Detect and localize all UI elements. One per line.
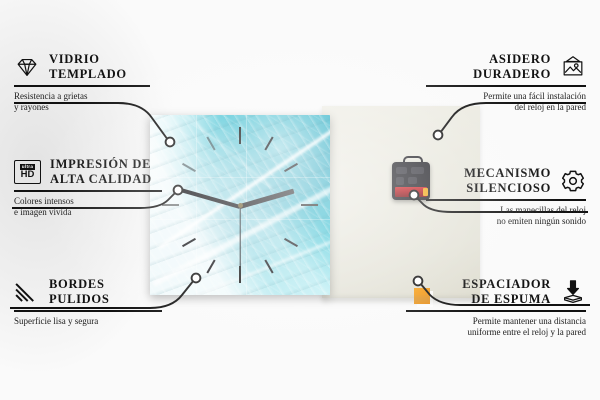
feature-subtitle-line2: del reloj en la pared — [426, 102, 586, 114]
feature-impresion-alta-calidad: ultra HD IMPRESIÓN DE ALTA CALIDAD Color… — [14, 157, 190, 219]
feature-vidrio-templado: VIDRIO TEMPLADO Resistencia a grietas y … — [14, 52, 174, 114]
feature-subtitle-line2: y rayones — [14, 102, 174, 114]
diamond-icon — [14, 54, 40, 80]
feature-title-line2: SILENCIOSO — [466, 181, 551, 195]
foam-spacer-arrow-icon — [560, 279, 586, 305]
feature-title-line1: IMPRESIÓN DE — [50, 157, 151, 171]
hanging-frame-icon — [560, 54, 586, 80]
ultra-hd-badge-main: HD — [21, 170, 35, 180]
feature-title-line1: BORDES — [49, 277, 105, 291]
feature-title-line2: DE ESPUMA — [471, 292, 551, 306]
feature-subtitle-line1: Resistencia a grietas — [14, 91, 174, 103]
leader-dot-middle-right — [410, 191, 419, 200]
feature-title-line1: MECANISMO — [464, 166, 551, 180]
bevelled-edges-icon — [14, 279, 40, 305]
feature-title-line2: DURADERO — [473, 67, 551, 81]
feature-title-line2: PULIDOS — [49, 292, 109, 306]
feature-asidero-duradero: ASIDERO DURADERO Permite una fácil insta… — [426, 52, 586, 114]
leader-dot-top-right — [434, 131, 443, 140]
gear-icon — [560, 168, 586, 194]
ultra-hd-badge-icon: ultra HD — [14, 160, 41, 184]
feature-bordes-pulidos: BORDES PULIDOS Superficie lisa y segura — [14, 277, 174, 327]
feature-subtitle-line1: Colores intensos — [14, 196, 190, 208]
product-infographic: VIDRIO TEMPLADO Resistencia a grietas y … — [0, 0, 600, 400]
feature-subtitle-line2: e imagen vívida — [14, 207, 190, 219]
feature-title-line2: ALTA CALIDAD — [50, 172, 152, 186]
feature-subtitle-line2: no emiten ningún sonido — [426, 216, 586, 228]
feature-subtitle-line1: Permite mantener una distancia — [406, 316, 586, 328]
feature-rule — [14, 85, 150, 87]
leader-dot-bottom-left — [192, 274, 201, 283]
feature-title-line1: VIDRIO — [49, 52, 100, 66]
feature-rule — [14, 190, 162, 192]
feature-rule — [406, 310, 586, 312]
feature-title-line1: ASIDERO — [489, 52, 551, 66]
feature-rule — [426, 85, 586, 87]
feature-subtitle-line2: uniforme entre el reloj y la pared — [406, 327, 586, 339]
feature-rule — [426, 199, 586, 201]
feature-rule — [14, 310, 162, 312]
feature-subtitle-line1: Permite una fácil instalación — [426, 91, 586, 103]
feature-espaciador-espuma: ESPACIADOR DE ESPUMA Permite mantener un… — [406, 277, 586, 339]
feature-title-line1: ESPACIADOR — [462, 277, 551, 291]
feature-mecanismo-silencioso: MECANISMO SILENCIOSO Las manecillas del … — [426, 166, 586, 228]
feature-subtitle-line1: Las manecillas del reloj — [426, 205, 586, 217]
feature-subtitle-line1: Superficie lisa y segura — [14, 316, 174, 328]
leader-dot-top-left — [166, 138, 175, 147]
feature-title-line2: TEMPLADO — [49, 67, 127, 81]
